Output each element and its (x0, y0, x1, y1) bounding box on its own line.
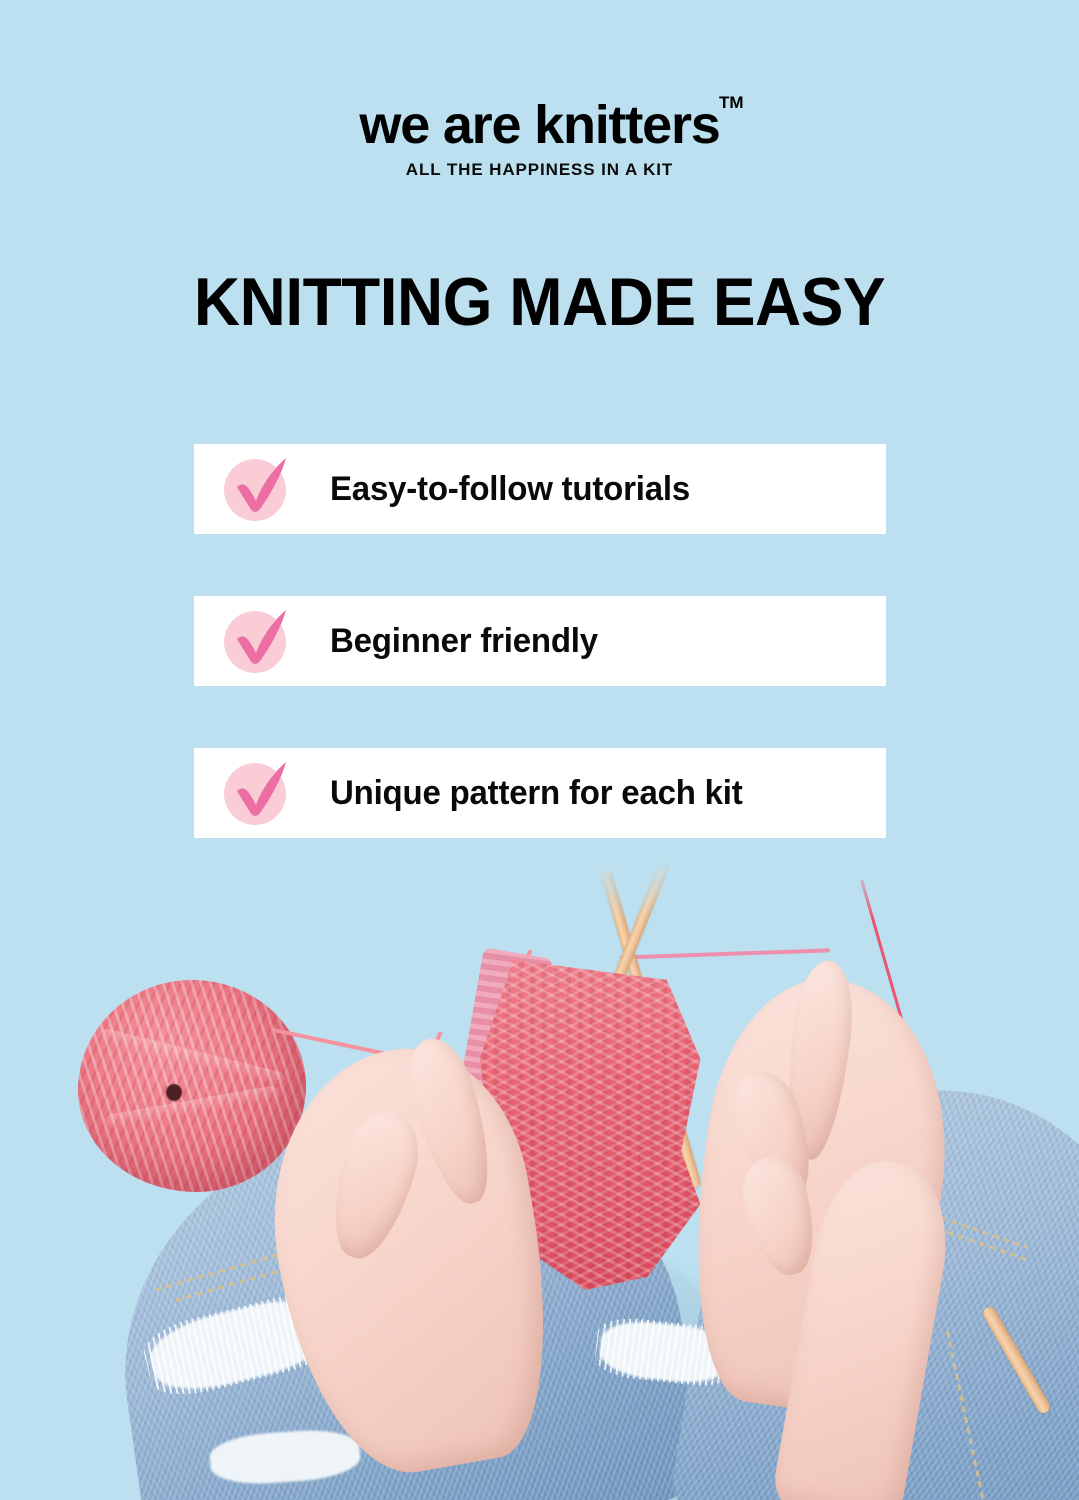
check-icon-glyph (224, 449, 296, 521)
working-yarn (620, 948, 830, 959)
check-icon-glyph (224, 601, 296, 673)
feature-card: Easy-to-follow tutorials (194, 444, 886, 534)
yarn-strand-highlight (97, 1027, 285, 1087)
photo-top-fade (0, 860, 1079, 920)
check-icon (224, 609, 288, 673)
page-title: KNITTING MADE EASY (32, 266, 1046, 338)
feature-card: Beginner friendly (194, 596, 886, 686)
feature-card: Unique pattern for each kit (194, 748, 886, 838)
check-icon (224, 457, 288, 521)
yarn-strand-highlight (104, 1085, 280, 1129)
brand-wordmark-text: we are knitters (359, 95, 719, 155)
feature-label: Unique pattern for each kit (330, 774, 743, 812)
brand-wordmark: we are knitters TM (359, 96, 719, 154)
check-icon (224, 761, 288, 825)
knitting-photo (0, 860, 1079, 1500)
yarn-ball (78, 980, 306, 1192)
poster-root: we are knitters TM ALL THE HAPPINESS IN … (0, 0, 1079, 1500)
feature-label: Easy-to-follow tutorials (330, 470, 690, 508)
brand-header: we are knitters TM ALL THE HAPPINESS IN … (0, 96, 1079, 180)
trademark-symbol: TM (719, 94, 744, 111)
feature-list: Easy-to-follow tutorials Beginner friend… (194, 444, 886, 838)
yarn-ball-center-hole (166, 1084, 182, 1101)
check-icon-glyph (224, 753, 296, 825)
brand-tagline: ALL THE HAPPINESS IN A KIT (0, 160, 1079, 180)
feature-label: Beginner friendly (330, 622, 598, 660)
